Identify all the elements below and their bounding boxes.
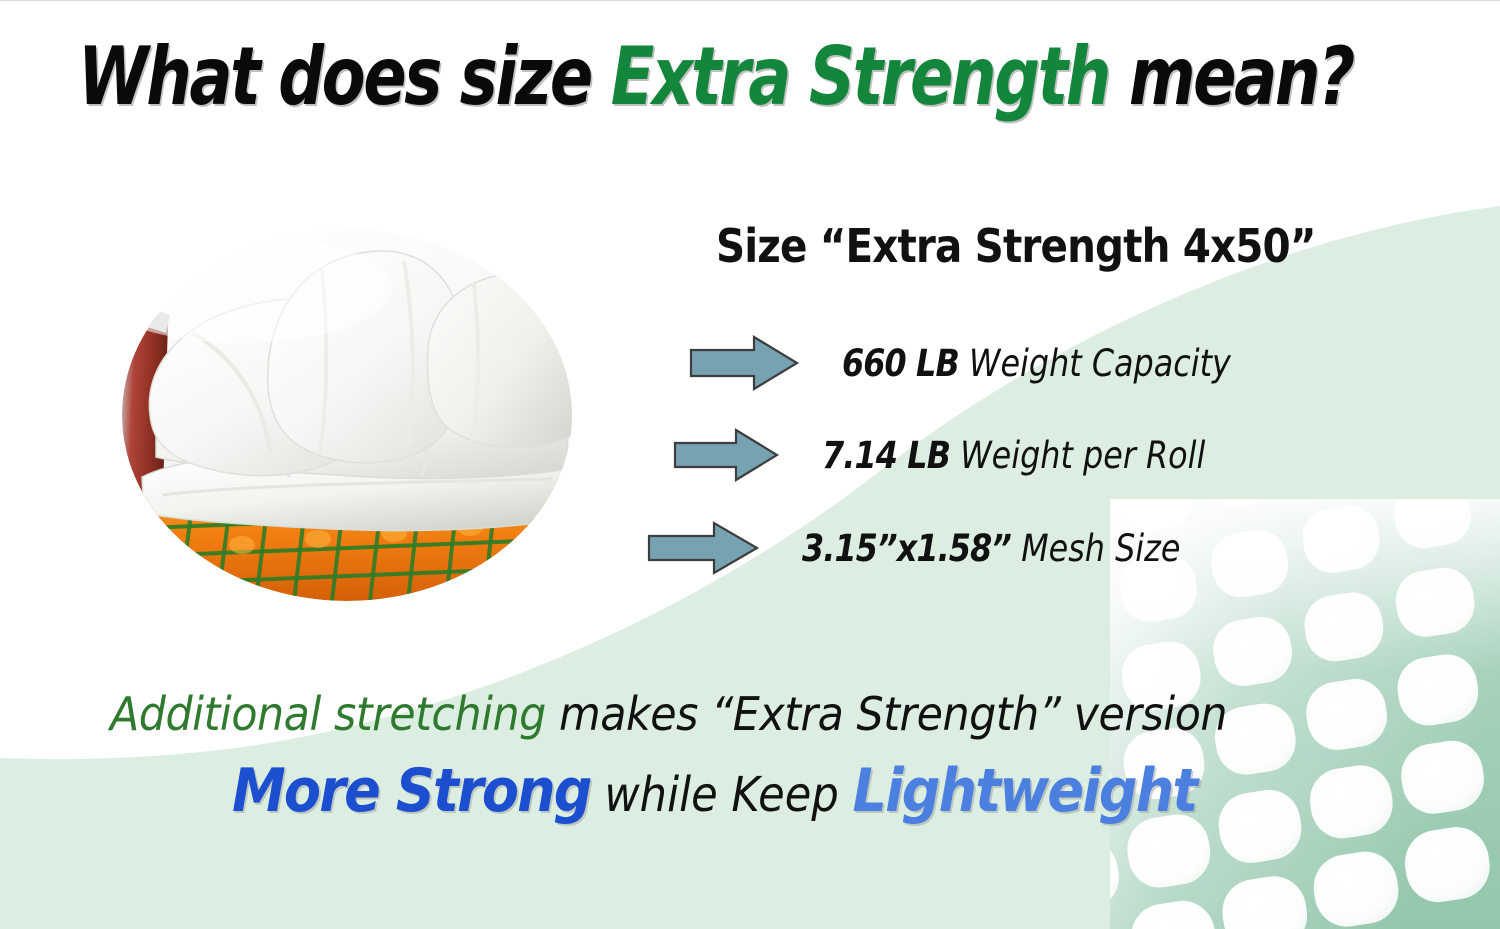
spec-row: 3.15”x1.58” Mesh Size — [646, 520, 1242, 576]
tagline-line-2: More Strong while Keep Lightweight — [232, 761, 1196, 821]
spec-text: 660 LB Weight Capacity — [842, 345, 1231, 382]
spec-value: 660 LB — [842, 342, 959, 385]
title-part2: mean? — [1109, 30, 1353, 123]
tagline-green-text: Additional stretching — [110, 687, 546, 741]
spec-label: Weight Capacity — [959, 342, 1231, 385]
title-part1: What does size — [78, 30, 611, 123]
spec-label: Mesh Size — [1011, 527, 1180, 570]
arrow-right-icon — [688, 334, 800, 392]
spec-label: Weight per Roll — [950, 434, 1205, 477]
spec-row: 7.14 LB Weight per Roll — [672, 427, 1268, 483]
infographic-poster: What does size Extra Strength mean? — [0, 0, 1500, 929]
tagline-more-strong: More Strong — [232, 756, 591, 826]
spec-heading: Size “Extra Strength 4x50” — [716, 223, 1316, 269]
title-highlight: Extra Strength — [611, 30, 1109, 123]
spec-value: 7.14 LB — [822, 434, 950, 477]
product-photo — [122, 229, 572, 601]
tagline-while-keep: while Keep — [591, 767, 853, 823]
tagline-black-text: makes “Extra Strength” version — [546, 687, 1227, 741]
spec-row: 660 LB Weight Capacity — [688, 334, 1294, 392]
page-title: What does size Extra Strength mean? — [78, 37, 1353, 117]
spec-text: 7.14 LB Weight per Roll — [822, 437, 1205, 474]
spec-text: 3.15”x1.58” Mesh Size — [802, 530, 1180, 567]
arrow-right-icon — [672, 427, 780, 483]
tagline-lightweight: Lightweight — [852, 756, 1196, 826]
arrow-right-icon — [646, 520, 760, 576]
tagline-line-1: Additional stretching makes “Extra Stren… — [110, 691, 1227, 737]
spec-value: 3.15”x1.58” — [802, 527, 1011, 570]
